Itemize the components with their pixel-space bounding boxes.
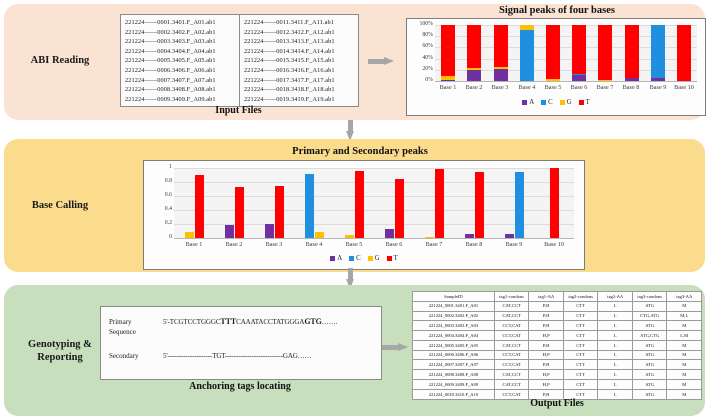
table-cell: L <box>598 370 633 380</box>
table-header-tag2-condons: tag2-condons <box>563 292 598 302</box>
table-cell: CCT,CAT <box>494 331 529 341</box>
y-axis-tick-label: 0 <box>158 235 172 241</box>
x-axis-tick-label: Base 10 <box>671 85 697 91</box>
y-axis-tick-label: 80% <box>417 33 433 39</box>
table-cell: H,P <box>529 380 564 390</box>
table-row[interactable]: 221224_0004.3404.F_A04CCT,CATH,PCTTLATG,… <box>413 331 702 341</box>
x-axis-tick-label: Base 6 <box>374 242 414 248</box>
table-cell: H,P <box>529 331 564 341</box>
input-file-item[interactable]: 221224——0009.3409.F_A09.ab1 <box>125 95 237 105</box>
table-cell: CTT <box>563 321 598 331</box>
legend-item-G[interactable]: G <box>368 255 380 262</box>
table-cell: M <box>667 360 702 370</box>
stacked-bar <box>441 25 455 81</box>
legend-label: A <box>529 99 534 106</box>
primary-suffix: ……. <box>322 318 337 326</box>
table-cell: P,H <box>529 321 564 331</box>
y-axis-tick-label: 0.2 <box>158 221 172 227</box>
bar-segment-T <box>546 25 560 79</box>
secondary-tag2: GAG <box>283 352 298 360</box>
gridline <box>174 196 574 197</box>
gridline <box>174 224 574 225</box>
table-cell: ATG <box>632 370 667 380</box>
bar-segment-C <box>651 25 665 78</box>
table-cell: L,M <box>667 331 702 341</box>
stage-label-genotyping-line1: Genotyping & <box>28 339 92 350</box>
input-file-item[interactable]: 221224——0001.3401.F_A01.ab1 <box>125 18 237 28</box>
legend-swatch-T <box>387 256 392 261</box>
x-axis-tick-label: Base 7 <box>592 85 618 91</box>
bar-G <box>185 232 194 238</box>
input-file-item[interactable]: 221224——0003.3403.F_A03.ab1 <box>125 37 237 47</box>
x-axis-tick-label: Base 4 <box>514 85 540 91</box>
table-cell: M <box>667 370 702 380</box>
input-file-item[interactable]: 221224——0007.3407.F_A07.ab1 <box>125 76 237 86</box>
table-cell: 221224_0002.3402.F_A02 <box>413 311 495 321</box>
x-axis-tick-label: Base 3 <box>487 85 513 91</box>
input-file-item[interactable]: 221224——0018.3418.F_A18.ab1 <box>244 85 356 95</box>
table-cell: CAT,CCT <box>494 370 529 380</box>
table-cell: H,P <box>529 350 564 360</box>
table-cell: CTT <box>563 370 598 380</box>
stacked-bar <box>625 25 639 81</box>
secondary-sequence-text: 5'--------------------TGT---------------… <box>163 352 312 360</box>
table-cell: ATG <box>632 360 667 370</box>
primary-middle: CAAATACCTATGGGA <box>236 318 304 326</box>
primary-sequence-text: 5'-TCGTCCTGGGCTTTCAAATACCTATGGGAGTG……. <box>163 317 337 326</box>
bar-segment-A <box>494 69 508 81</box>
bar-segment-C <box>520 30 534 81</box>
table-cell: CCT,CAT <box>494 360 529 370</box>
chart-title-primary-secondary: Primary and Secondary peaks <box>140 146 580 157</box>
bar-segment-A <box>467 70 481 81</box>
stacked-bar <box>598 25 612 81</box>
table-cell: 221224_0007.3407.F_A07 <box>413 360 495 370</box>
x-axis-tick-label: Base 3 <box>254 242 294 248</box>
table-row[interactable]: 221224_0001.3401.F_A01CAT,CCTP,HCTTLATGM <box>413 301 702 311</box>
gridline <box>174 182 574 183</box>
legend-swatch-C <box>541 100 546 105</box>
bar-T <box>395 179 404 239</box>
table-cell: M <box>667 301 702 311</box>
table-cell: CAT,CCT <box>494 301 529 311</box>
input-file-item[interactable]: 221224——0004.3404.F_A04.ab1 <box>125 47 237 57</box>
bar-T <box>475 172 484 238</box>
y-axis-tick-label: 0.6 <box>158 193 172 199</box>
primary-label-line1: Primary <box>109 318 132 326</box>
arrow-right-icon-abi <box>368 57 394 66</box>
table-cell: 221224_0009.3409.F_A09 <box>413 380 495 390</box>
x-axis-tick-label: Base 2 <box>461 85 487 91</box>
x-axis-tick-label: Base 8 <box>454 242 494 248</box>
legend-label: A <box>337 255 342 262</box>
primary-prefix: 5'-TCGTCCTGGGC <box>163 318 220 326</box>
table-cell: ATG <box>632 350 667 360</box>
table-cell: CTT <box>563 340 598 350</box>
arrow-down-icon-1 <box>346 120 355 140</box>
bar-T <box>275 186 284 239</box>
table-cell: L <box>598 321 633 331</box>
legend-item-C[interactable]: C <box>541 99 553 106</box>
input-file-item[interactable]: 221224——0012.3412.F_A12.ab1 <box>244 28 356 38</box>
table-header-sampleid: SampleID <box>413 292 495 302</box>
legend-label: C <box>356 255 361 262</box>
x-axis-tick-label: Base 10 <box>534 242 574 248</box>
y-axis-tick-label: 40% <box>417 56 433 62</box>
stage-label-genotyping-line2: Reporting <box>37 352 83 363</box>
bar-C <box>515 172 524 238</box>
legend-item-G[interactable]: G <box>560 99 572 106</box>
table-cell: 221224_0004.3404.F_A04 <box>413 331 495 341</box>
table-cell: CTT <box>563 311 598 321</box>
table-row[interactable]: 221224_0003.3403.F_A03CCT,CATP,HCTTLATGM <box>413 321 702 331</box>
legend-item-T[interactable]: T <box>579 99 590 106</box>
x-axis-tick-label: Base 1 <box>174 242 214 248</box>
bar-segment-T <box>441 25 455 76</box>
table-cell: 221224_0006.3406.F_A06 <box>413 350 495 360</box>
legend-swatch-G <box>560 100 565 105</box>
table-header-tag3-condons: tag3-condons <box>632 292 667 302</box>
table-cell: CTT <box>563 360 598 370</box>
chart-signal-peaks: 0%20%40%60%80%100%Base 1Base 2Base 3Base… <box>406 18 706 116</box>
table-cell: M <box>667 340 702 350</box>
x-axis-tick-label: Base 4 <box>294 242 334 248</box>
input-file-item[interactable]: 221224——0017.3417.F_A17.ab1 <box>244 76 356 86</box>
input-files-column-left: 221224——0001.3401.F_A01.ab1221224——0002.… <box>121 15 239 106</box>
table-cell: ATG <box>632 380 667 390</box>
stage-label-base-calling: Base Calling <box>12 199 108 212</box>
stacked-bar <box>546 25 560 81</box>
input-file-item[interactable]: 221224——0011.3411.F_A11.ab1 <box>244 18 356 28</box>
table-cell: CTG,ATG <box>632 311 667 321</box>
table-row[interactable]: 221224_0009.3409.F_A09CAT,CCTH,PCTTLATGM <box>413 380 702 390</box>
table-cell: P,H <box>529 301 564 311</box>
table-row[interactable]: 221224_0005.3405.F_A05CAT,CCTP,HCTTLATGM <box>413 340 702 350</box>
y-axis-tick-label: 0.8 <box>158 179 172 185</box>
y-axis-tick-label: 20% <box>417 67 433 73</box>
bar-segment-G <box>546 79 560 81</box>
legend-swatch-A <box>330 256 335 261</box>
x-axis-tick-label: Base 5 <box>334 242 374 248</box>
bar-segment-A <box>441 80 455 81</box>
bar-A <box>225 225 234 238</box>
table-cell: L <box>598 311 633 321</box>
table-cell: ATG <box>632 301 667 311</box>
secondary-suffix: …… <box>298 352 312 360</box>
bar-T <box>235 187 244 238</box>
y-axis-tick-label: 1 <box>158 165 172 171</box>
table-row[interactable]: 221224_0008.3408.F_A08CAT,CCTH,PCTTLATGM <box>413 370 702 380</box>
chart-title-signal-peaks: Signal peaks of four bases <box>412 5 702 16</box>
table-cell: ATG <box>632 321 667 331</box>
plot-area <box>174 168 574 238</box>
legend-swatch-A <box>522 100 527 105</box>
gridline <box>435 81 697 82</box>
bar-segment-T <box>494 25 508 67</box>
table-cell: CAT,CCT <box>494 380 529 390</box>
table-header-row: SampleIDtag1-condonstag1-AAtag2-condonst… <box>413 292 702 302</box>
bar-G <box>425 237 434 238</box>
table-row[interactable]: 221224_0007.3407.F_A07CCT,CATP,HCTTLATGM <box>413 360 702 370</box>
table-header-tag1-condons: tag1-condons <box>494 292 529 302</box>
input-files-caption: Input Files <box>120 105 357 116</box>
figure-canvas: ABI Reading 221224——0001.3401.F_A01.ab12… <box>0 0 709 420</box>
secondary-dash1: -------------------- <box>168 352 213 360</box>
bar-segment-T <box>625 25 639 78</box>
bar-G <box>345 235 354 238</box>
input-file-item[interactable]: 221224——0006.3406.F_A06.ab1 <box>125 66 237 76</box>
chart-primary-secondary-peaks: 00.20.40.60.81Base 1Base 2Base 3Base 4Ba… <box>143 160 585 270</box>
table-row[interactable]: 221224_0006.3406.F_A06CCT,CATH,PCTTLATGM <box>413 350 702 360</box>
gridline <box>174 168 574 169</box>
table-cell: CTT <box>563 301 598 311</box>
bar-segment-A <box>572 75 586 81</box>
stacked-bar <box>467 25 481 81</box>
stacked-bar <box>520 25 534 81</box>
input-files-box: 221224——0001.3401.F_A01.ab1221224——0002.… <box>120 14 359 107</box>
primary-tag2: GTG <box>304 317 321 326</box>
table-body: 221224_0001.3401.F_A01CAT,CCTP,HCTTLATGM… <box>413 301 702 399</box>
table-cell: CCT,CAT <box>494 350 529 360</box>
primary-sequence-label: Primary Sequence <box>109 317 136 337</box>
legend-label: C <box>548 99 553 106</box>
secondary-sequence-label: Secondary <box>109 352 139 360</box>
bar-A <box>265 224 274 238</box>
bar-A <box>465 234 474 238</box>
table-cell: P,H <box>529 340 564 350</box>
table-cell: CTT <box>563 380 598 390</box>
table-cell: M <box>667 380 702 390</box>
input-file-item[interactable]: 221224——0014.3414.F_A14.ab1 <box>244 47 356 57</box>
x-axis-tick-label: Base 2 <box>214 242 254 248</box>
input-file-item[interactable]: 221224——0016.3416.F_A16.ab1 <box>244 66 356 76</box>
stacked-bar <box>651 25 665 81</box>
legend-item-C[interactable]: C <box>349 255 361 262</box>
table-cell: M,L <box>667 311 702 321</box>
legend-swatch-T <box>579 100 584 105</box>
arrow-right-icon-geno <box>382 343 408 352</box>
bar-segment-A <box>625 78 639 81</box>
output-files-caption: Output Files <box>412 398 702 409</box>
legend-item-T[interactable]: T <box>387 255 398 262</box>
y-axis-tick-label: 100% <box>417 22 433 28</box>
gridline <box>174 210 574 211</box>
bar-segment-T <box>677 25 691 81</box>
table-header-tag3-aa: tag3-AA <box>667 292 702 302</box>
input-files-column-right: 221224——0011.3411.F_A11.ab1221224——0012.… <box>239 15 358 106</box>
chart-legend: ACGT <box>407 99 705 106</box>
bar-T <box>195 175 204 238</box>
table-cell: 221224_0003.3403.F_A03 <box>413 321 495 331</box>
x-axis-tick-label: Base 6 <box>566 85 592 91</box>
input-file-item[interactable]: 221224——0015.3415.F_A15.ab1 <box>244 56 356 66</box>
stacked-bar <box>572 25 586 81</box>
table-cell: CAT,CCT <box>494 340 529 350</box>
table-cell: CTT <box>563 331 598 341</box>
bar-segment-G <box>598 80 612 81</box>
table-cell: L <box>598 340 633 350</box>
table-cell: CTT <box>563 350 598 360</box>
primary-tag1: TTT <box>220 317 236 326</box>
bar-segment-T <box>467 25 481 68</box>
anchoring-tags-caption: Anchoring tags locating <box>100 381 380 392</box>
x-axis-tick-label: Base 5 <box>540 85 566 91</box>
table-cell: L <box>598 350 633 360</box>
table-cell: M <box>667 350 702 360</box>
bar-A <box>385 229 394 238</box>
table-cell: 221224_0008.3408.F_A08 <box>413 370 495 380</box>
bar-T <box>435 169 444 238</box>
input-file-item[interactable]: 221224——0019.3419.F_A19.ab1 <box>244 95 356 105</box>
y-axis-tick-label: 0% <box>417 78 433 84</box>
legend-item-A[interactable]: A <box>330 255 342 262</box>
x-axis-tick-label: Base 1 <box>435 85 461 91</box>
bar-A <box>505 234 514 238</box>
x-axis-tick-label: Base 7 <box>414 242 454 248</box>
legend-label: G <box>375 255 380 262</box>
legend-label: T <box>586 99 590 106</box>
table-cell: L <box>598 331 633 341</box>
table-cell: ATG,CTG <box>632 331 667 341</box>
y-axis-tick-label: 60% <box>417 44 433 50</box>
table-cell: CCT,CAT <box>494 321 529 331</box>
stage-label-genotyping-reporting: Genotyping & Reporting <box>12 338 108 364</box>
input-file-item[interactable]: 221224——0002.3402.F_A02.ab1 <box>125 28 237 38</box>
bar-C <box>305 174 314 238</box>
x-axis-tick-label: Base 9 <box>645 85 671 91</box>
x-axis-tick-label: Base 9 <box>494 242 534 248</box>
y-axis-tick-label: 0.4 <box>158 207 172 213</box>
legend-swatch-C <box>349 256 354 261</box>
gridline <box>174 238 574 239</box>
output-files-table: SampleIDtag1-condonstag1-AAtag2-condonst… <box>412 291 702 400</box>
table-cell: 221224_0001.3401.F_A01 <box>413 301 495 311</box>
bar-T <box>355 171 364 238</box>
input-file-item[interactable]: 221224——0005.3405.F_A05.ab1 <box>125 56 237 66</box>
legend-swatch-G <box>368 256 373 261</box>
input-file-item[interactable]: 221224——0013.3413.F_A13.ab1 <box>244 37 356 47</box>
anchoring-tags-box: Primary Sequence 5'-TCGTCCTGGGCTTTCAAATA… <box>100 306 382 380</box>
bar-segment-T <box>572 25 586 74</box>
secondary-dash2: -------------------------- <box>225 352 283 360</box>
table-row[interactable]: 221224_0002.3402.F_A02CAT,CCTP,HCTTLCTG,… <box>413 311 702 321</box>
table-cell: L <box>598 301 633 311</box>
table-header-tag2-aa: tag2-AA <box>598 292 633 302</box>
table-cell: 221224_0005.3405.F_A05 <box>413 340 495 350</box>
table-cell: CAT,CCT <box>494 311 529 321</box>
table-cell: M <box>667 321 702 331</box>
legend-label: T <box>394 255 398 262</box>
secondary-tag1: TGT <box>212 352 225 360</box>
bar-segment-A <box>651 78 665 81</box>
stacked-bar <box>494 25 508 81</box>
table-cell: L <box>598 360 633 370</box>
table-cell: L <box>598 380 633 390</box>
table-cell: P,H <box>529 311 564 321</box>
bar-G <box>315 232 324 238</box>
input-file-item[interactable]: 221224——0008.3408.F_A08.ab1 <box>125 85 237 95</box>
table-header-tag1-aa: tag1-AA <box>529 292 564 302</box>
legend-item-A[interactable]: A <box>522 99 534 106</box>
primary-label-line2: Sequence <box>109 328 136 336</box>
chart-legend: ACGT <box>144 255 584 262</box>
bar-T <box>550 168 559 238</box>
table-cell: P,H <box>529 360 564 370</box>
stage-label-abi-reading: ABI Reading <box>12 54 108 67</box>
table-cell: H,P <box>529 370 564 380</box>
bar-segment-T <box>598 25 612 80</box>
x-axis-tick-label: Base 8 <box>618 85 644 91</box>
stacked-bar <box>677 25 691 81</box>
legend-label: G <box>567 99 572 106</box>
table-cell: ATG <box>632 340 667 350</box>
